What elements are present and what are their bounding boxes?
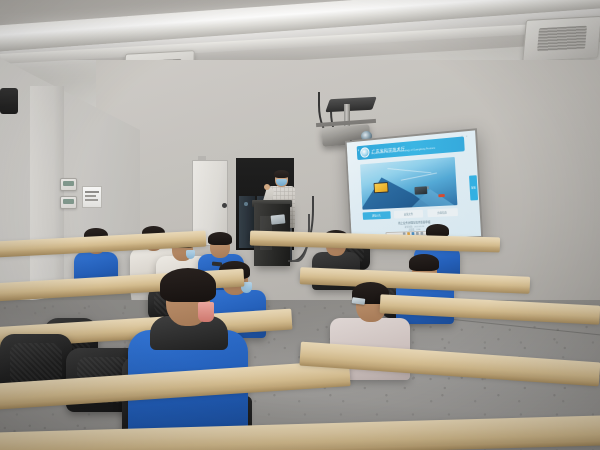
training-room-photo: – □ × 广东省科学技术厅 ‹ Department of Science a… bbox=[0, 0, 600, 450]
attendee-hair bbox=[160, 268, 216, 302]
projector-ceiling-plate bbox=[325, 97, 376, 112]
lectern-laptop[interactable] bbox=[271, 214, 286, 224]
door-handle-icon[interactable] bbox=[222, 203, 227, 208]
hero-red-object bbox=[438, 194, 444, 198]
face-mask bbox=[186, 250, 195, 259]
wall-notice-sign bbox=[82, 186, 102, 208]
slide-hero-image bbox=[360, 157, 457, 209]
organization-logo-icon bbox=[360, 147, 370, 158]
wall-speaker-icon bbox=[0, 88, 18, 114]
slide-tab-1[interactable]: 政策文件 bbox=[394, 210, 423, 218]
attendee-hair bbox=[409, 254, 439, 271]
control-panel-lower[interactable] bbox=[60, 196, 77, 209]
mouse-cursor-icon bbox=[426, 186, 428, 189]
attendee-hair bbox=[208, 232, 232, 245]
face-mask bbox=[198, 302, 214, 322]
ceiling-cassette-ac-icon bbox=[522, 16, 600, 62]
slide-tab-row: 通知公告 政策文件 办事指南 bbox=[362, 208, 457, 219]
presenter-hair bbox=[274, 170, 289, 178]
presenter-hand bbox=[264, 184, 270, 190]
door-frame-detail bbox=[198, 156, 206, 160]
slide-tab-2[interactable]: 办事指南 bbox=[427, 208, 458, 217]
control-panel-upper[interactable] bbox=[60, 178, 77, 191]
hero-yellow-object bbox=[373, 182, 388, 193]
back-chevron-icon[interactable]: ‹ bbox=[358, 148, 360, 154]
slide-side-tab[interactable]: 客服 bbox=[469, 175, 477, 201]
projection-screen: – □ × 广东省科学技术厅 ‹ Department of Science a… bbox=[345, 128, 483, 241]
slide-tab-0[interactable]: 通知公告 bbox=[362, 212, 390, 220]
projected-slide: – □ × 广东省科学技术厅 ‹ Department of Science a… bbox=[347, 130, 481, 239]
